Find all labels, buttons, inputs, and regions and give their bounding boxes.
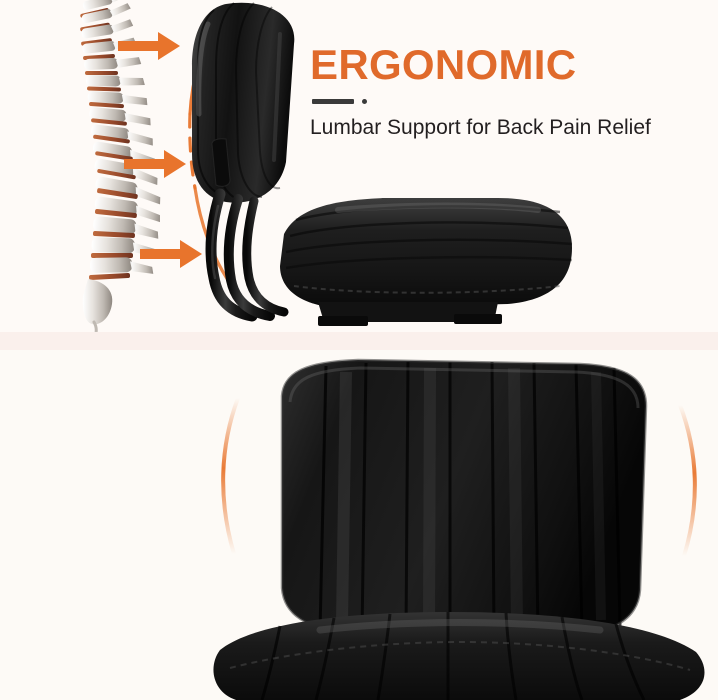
dash-dot-divider [312,93,651,111]
panel-vertical-stripe: VERTICAL STRIPE DESIGN Simple and Beauti… [0,350,718,700]
orange-accent-arc-left [223,398,238,554]
backrest-front [282,360,646,636]
seat-cushion-front [213,612,704,700]
product-feature-page: ERGONOMIC Lumbar Support for Back Pain R… [0,0,718,700]
panel-ergonomic: ERGONOMIC Lumbar Support for Back Pain R… [0,0,718,332]
ergonomic-headline: ERGONOMIC [310,44,651,86]
backrest-side [192,3,294,203]
ergonomic-text-block: ERGONOMIC Lumbar Support for Back Pain R… [310,44,651,140]
orange-accent-arc-right [680,405,695,556]
ergonomic-subtitle: Lumbar Support for Back Pain Relief [310,116,651,140]
seat-cushion-side [280,198,572,308]
divider-dot [362,99,367,104]
chair-front-view-image [210,350,718,700]
panel-divider-band [0,332,718,350]
backrest-support-frame [211,194,284,316]
divider-dash [312,99,354,104]
seat-base-plate [318,302,502,326]
